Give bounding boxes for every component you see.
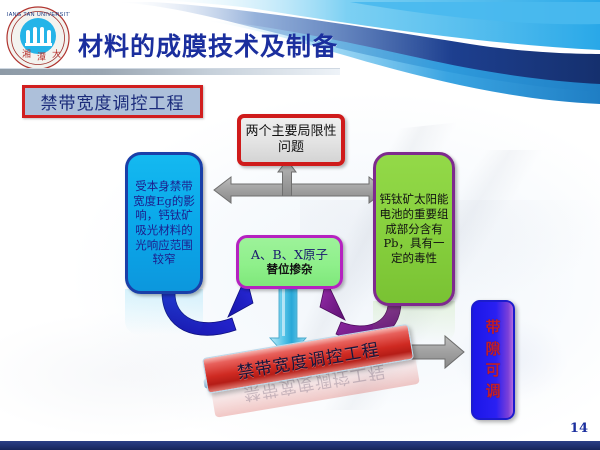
issue-box-bandgap: 受本身禁带宽度Eg的影响，钙钛矿吸光材料的光响应范围较窄: [125, 152, 203, 294]
page-number: 14: [570, 421, 588, 436]
limitation-box: 两个主要局限性问题: [237, 114, 345, 166]
issue-box-bandgap-label: 受本身禁带宽度Eg的影响，钙钛矿吸光材料的光响应范围较窄: [128, 179, 200, 267]
svg-text:潭: 潭: [37, 52, 46, 63]
subtitle-box: 禁带宽度调控工程: [22, 85, 203, 118]
double-headed-arrow-icon: [214, 177, 386, 203]
issue-box-toxicity-label: 钙钛矿太阳能电池的重要组成部分含有Pb，具有一定的毒性: [376, 192, 452, 267]
doping-box-line1: A、B、X原子: [251, 248, 328, 262]
logo-ring-text: XIANG TAN UNIVERSITY: [6, 12, 70, 18]
result-box: 带 隙 可 调: [471, 300, 515, 420]
issue-box-toxicity: 钙钛矿太阳能电池的重要组成部分含有Pb，具有一定的毒性: [373, 152, 455, 306]
university-logo: XIANG TAN UNIVERSITY 湘潭大: [6, 6, 70, 70]
svg-text:湘: 湘: [22, 48, 31, 60]
engineering-banner: 禁带宽度调控工程 禁带宽度调控工程: [205, 352, 420, 422]
page-title: 材料的成膜技术及制备: [78, 27, 338, 63]
result-char-3: 可: [485, 360, 500, 381]
doping-box-line2: 替位掺杂: [267, 263, 313, 276]
left-box-reflection: [125, 289, 203, 335]
subtitle-label: 禁带宽度调控工程: [41, 89, 185, 114]
limitation-box-label: 两个主要局限性问题: [241, 124, 341, 157]
svg-text:大: 大: [52, 48, 61, 60]
doping-box: A、B、X原子 替位掺杂: [236, 235, 343, 289]
result-char-4: 调: [485, 381, 500, 402]
footer-bar: [0, 441, 600, 450]
result-char-2: 隙: [485, 339, 500, 360]
result-char-1: 带: [485, 317, 500, 338]
title-divider: [0, 68, 340, 75]
slide-canvas: XIANG TAN UNIVERSITY 湘潭大 材料的成膜技术及制备 禁带宽度…: [0, 0, 600, 450]
